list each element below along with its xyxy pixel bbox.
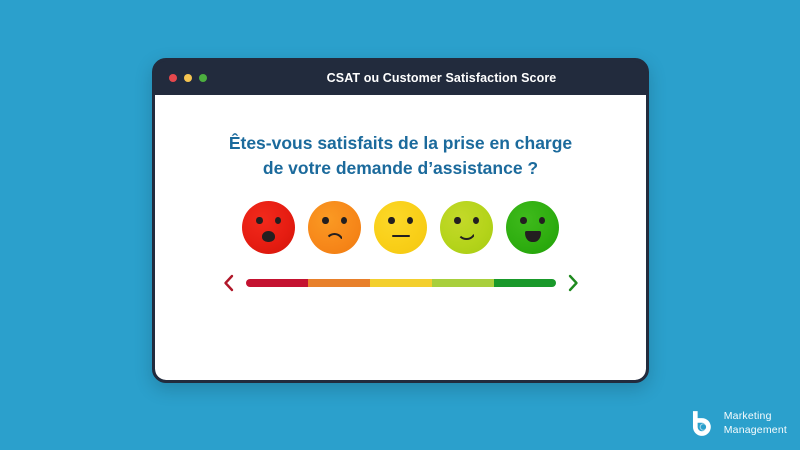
right-eye [341,217,348,225]
left-eye [322,217,329,225]
flat-mouth [392,235,410,238]
brand-logo-line-2: Management [724,424,787,437]
right-eye [473,217,480,225]
scale-segment-5[interactable] [494,279,556,287]
right-eye [539,217,546,225]
chevron-right-icon[interactable] [567,274,580,292]
scale-segment-1[interactable] [246,279,308,287]
left-eye [388,217,395,225]
satisfied-face-icon[interactable] [440,201,493,254]
very-dissatisfied-face-icon[interactable] [242,201,295,254]
survey-question-line-1: Êtes-vous satisfaits de la prise en char… [229,131,572,156]
left-eye [520,217,527,225]
left-eye [256,217,263,225]
open-smile-mouth [525,231,541,242]
left-eye [454,217,461,225]
b-monogram-icon [686,408,717,439]
survey-question-line-2: de votre demande d’assistance ? [229,156,572,181]
csat-survey: Êtes-vous satisfaits de la prise en char… [155,131,646,292]
window-title: CSAT ou Customer Satisfaction Score [155,71,646,85]
right-eye [407,217,414,225]
scale-segment-4[interactable] [432,279,494,287]
rating-faces-row [242,201,559,254]
rating-scale-row [222,274,580,292]
chevron-left-icon[interactable] [222,274,235,292]
frown-mouth [325,233,344,243]
satisfaction-gradient-bar[interactable] [246,279,556,287]
neutral-face-icon[interactable] [374,201,427,254]
open-frown-mouth [262,231,275,242]
brand-logo: Marketing Management [686,408,787,439]
right-eye [275,217,282,225]
brand-logo-line-1: Marketing [724,410,787,423]
very-satisfied-face-icon[interactable] [506,201,559,254]
window-content-area: Êtes-vous satisfaits de la prise en char… [155,95,646,380]
smile-mouth [457,231,476,240]
scale-segment-3[interactable] [370,279,432,287]
dissatisfied-face-icon[interactable] [308,201,361,254]
window-title-bar: CSAT ou Customer Satisfaction Score [155,61,646,95]
browser-window: CSAT ou Customer Satisfaction Score Êtes… [152,58,649,383]
brand-logo-text: Marketing Management [724,410,787,436]
survey-question: Êtes-vous satisfaits de la prise en char… [229,131,572,182]
scale-segment-2[interactable] [308,279,370,287]
